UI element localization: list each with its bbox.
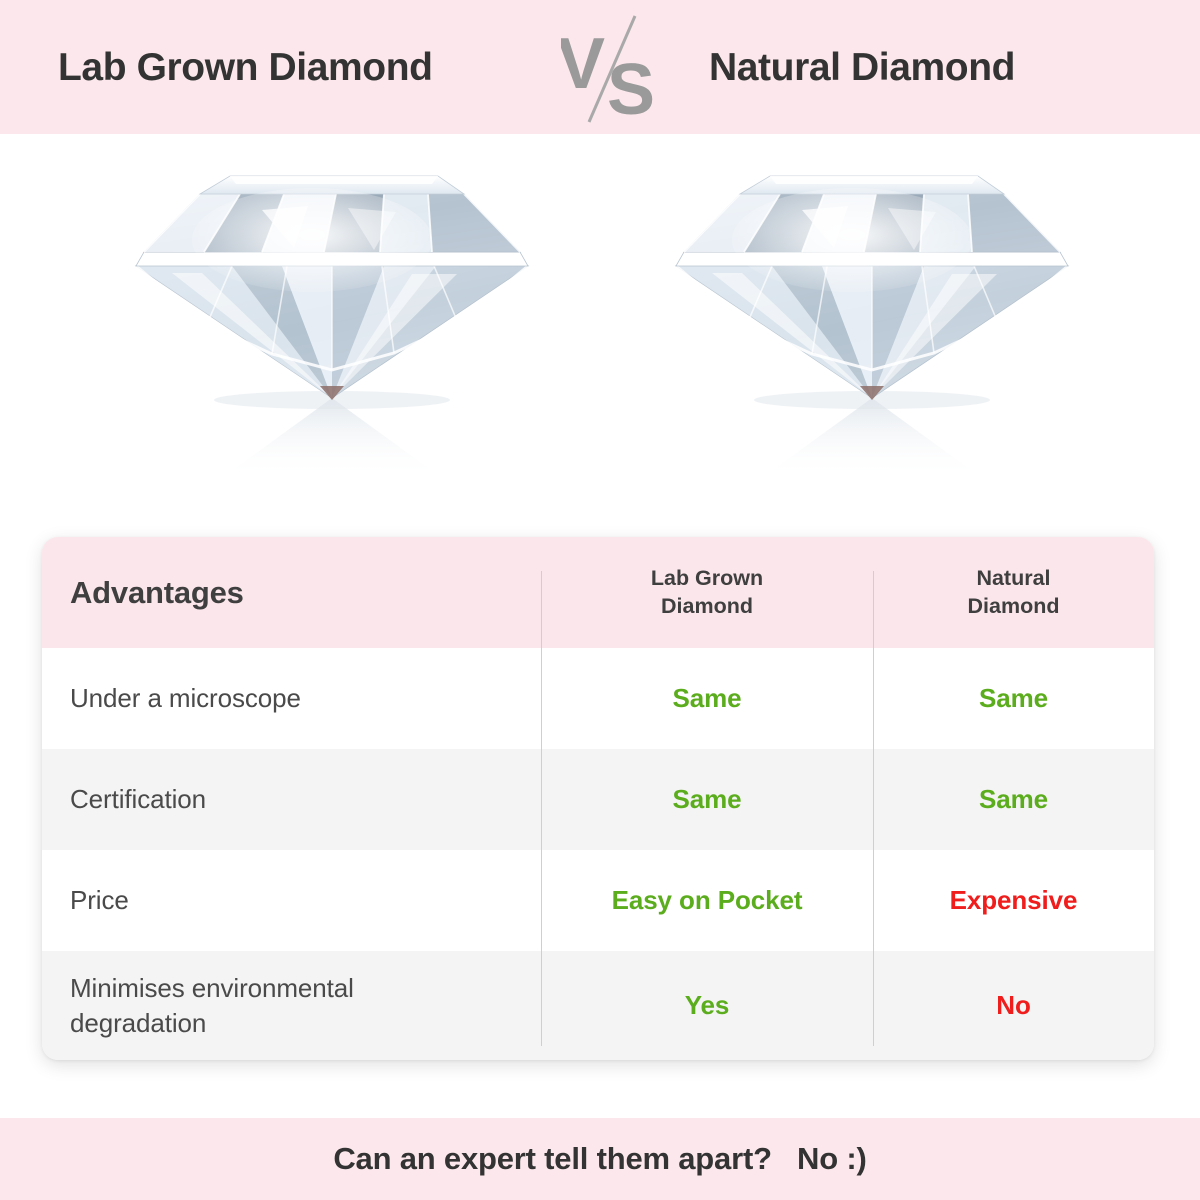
header-title-lab-grown: Lab Grown Diamond <box>58 48 433 87</box>
row-value-lab-grown: Same <box>673 784 742 814</box>
vs-badge: V S <box>561 10 665 128</box>
table-header-advantages-cell: Advantages <box>42 575 541 611</box>
diamond-stage <box>0 134 1200 524</box>
row-value-natural: No <box>996 990 1030 1020</box>
footer-question-answer: Can an expert tell them apart? No :) <box>333 1141 866 1177</box>
row-value-lab-grown-cell: Yes <box>541 990 873 1021</box>
comparison-table-card: Advantages Lab Grown Diamond Natural Dia… <box>42 537 1154 1060</box>
row-value-natural: Same <box>979 784 1048 814</box>
row-value-lab-grown: Yes <box>685 990 730 1020</box>
table-header-advantages-label: Advantages <box>70 575 244 610</box>
row-value-natural: Same <box>979 683 1048 713</box>
row-label: Under a microscope <box>70 683 301 713</box>
table-header-natural-line1: Natural <box>873 565 1154 593</box>
row-value-lab-grown-cell: Same <box>541 683 873 714</box>
row-value-natural-cell: No <box>873 990 1154 1021</box>
diamond-reflection <box>762 398 982 478</box>
diamond-image-natural <box>652 148 1092 518</box>
table-header-lab-grown-cell: Lab Grown Diamond <box>541 565 873 620</box>
table-row: Price Easy on Pocket Expensive <box>42 850 1154 951</box>
row-value-lab-grown-cell: Easy on Pocket <box>541 885 873 916</box>
table-row: Certification Same Same <box>42 749 1154 850</box>
header-band: Lab Grown Diamond V S Natural Diamond <box>0 0 1200 134</box>
row-value-natural-cell: Same <box>873 683 1154 714</box>
table-header-lab-grown-line2: Diamond <box>541 593 873 621</box>
table-header-lab-grown-label: Lab Grown Diamond <box>541 565 873 620</box>
column-divider-1 <box>541 571 542 1046</box>
row-label-cell: Certification <box>42 782 541 816</box>
table-row: Under a microscope Same Same <box>42 648 1154 749</box>
row-label-cell: Price <box>42 883 541 917</box>
row-label-line2: degradation <box>70 1006 541 1040</box>
row-label-cell: Minimises environmental degradation <box>42 971 541 1040</box>
row-value-lab-grown: Same <box>673 683 742 713</box>
row-label: Certification <box>70 784 206 814</box>
footer-band: Can an expert tell them apart? No :) <box>0 1118 1200 1200</box>
diamond-image-lab-grown <box>112 148 552 518</box>
row-value-natural-cell: Same <box>873 784 1154 815</box>
column-divider-2 <box>873 571 874 1046</box>
comparison-table: Advantages Lab Grown Diamond Natural Dia… <box>42 537 1154 1060</box>
vs-letter-v: V <box>561 24 605 104</box>
table-header-natural-cell: Natural Diamond <box>873 565 1154 620</box>
table-row: Minimises environmental degradation Yes … <box>42 951 1154 1060</box>
table-header-lab-grown-line1: Lab Grown <box>541 565 873 593</box>
diamond-reflection <box>222 398 442 478</box>
table-header-natural-line2: Diamond <box>873 593 1154 621</box>
table-header-natural-label: Natural Diamond <box>873 565 1154 620</box>
row-label-line1: Minimises environmental <box>70 971 541 1005</box>
row-value-lab-grown: Easy on Pocket <box>612 885 803 915</box>
row-value-lab-grown-cell: Same <box>541 784 873 815</box>
row-label: Minimises environmental degradation <box>70 971 541 1040</box>
row-label: Price <box>70 885 129 915</box>
row-label-cell: Under a microscope <box>42 681 541 715</box>
header-inner: Lab Grown Diamond V S Natural Diamond <box>0 0 1200 134</box>
table-header-row: Advantages Lab Grown Diamond Natural Dia… <box>42 537 1154 648</box>
header-title-natural: Natural Diamond <box>709 48 1015 87</box>
row-value-natural: Expensive <box>950 885 1078 915</box>
row-value-natural-cell: Expensive <box>873 885 1154 916</box>
